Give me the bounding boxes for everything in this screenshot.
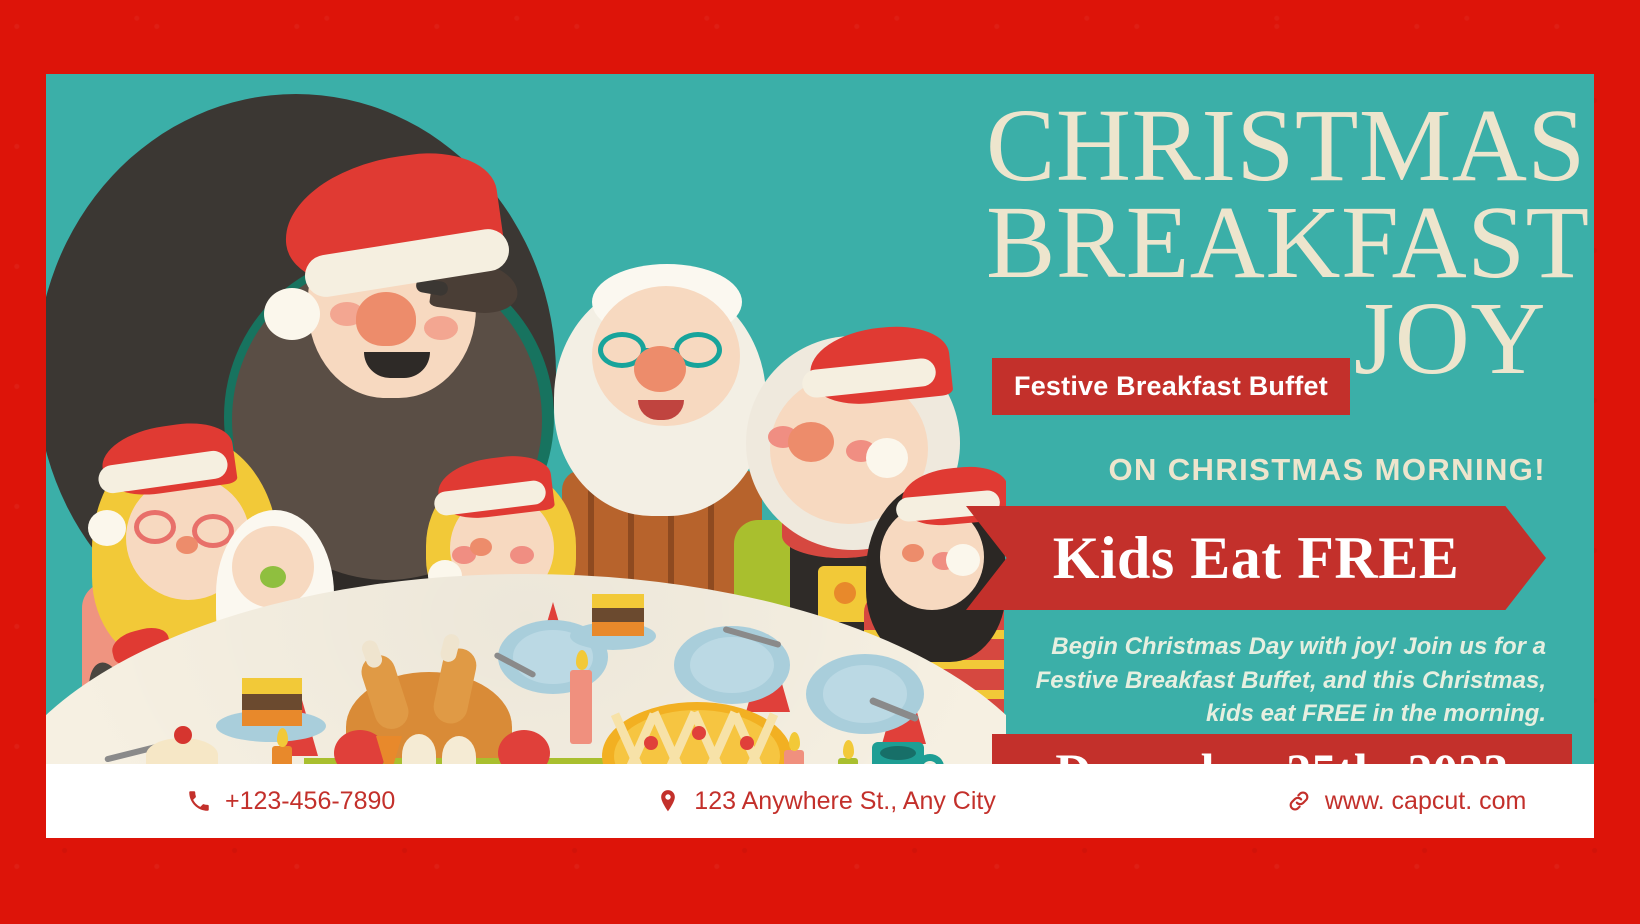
cake-middle-layer bbox=[592, 608, 644, 622]
grandmother-hat-pompom bbox=[866, 438, 908, 478]
candle bbox=[570, 670, 592, 744]
grandfather-nose bbox=[634, 346, 686, 392]
poster-canvas: CHRISTMAS BREAKFAST JOY Festive Breakfas… bbox=[46, 74, 1594, 838]
father-nose bbox=[356, 292, 416, 346]
contact-address[interactable]: 123 Anywhere St., Any City bbox=[655, 787, 996, 816]
mother-nose bbox=[176, 536, 198, 554]
baby-pacifier bbox=[260, 566, 286, 588]
promo-content: CHRISTMAS BREAKFAST JOY Festive Breakfas… bbox=[946, 74, 1594, 764]
cake-bottom-layer bbox=[242, 710, 302, 726]
page-title: CHRISTMAS BREAKFAST JOY bbox=[986, 98, 1546, 388]
promo-description: Begin Christmas Day with joy! Join us fo… bbox=[1006, 630, 1546, 731]
cake-middle-layer bbox=[242, 694, 302, 710]
candle bbox=[784, 750, 804, 764]
address-text: 123 Anywhere St., Any City bbox=[694, 787, 996, 816]
plate bbox=[806, 654, 924, 734]
father-hat-pompom bbox=[264, 288, 320, 340]
cherry bbox=[174, 726, 192, 744]
child-nose bbox=[470, 538, 492, 556]
teacup-liquid bbox=[880, 746, 916, 760]
child-cheek-right bbox=[510, 546, 534, 564]
headline-line-2: BREAKFAST bbox=[986, 195, 1546, 292]
grandmother-nose bbox=[788, 422, 834, 462]
candle-flame bbox=[789, 732, 800, 751]
family-illustration bbox=[46, 74, 1006, 764]
link-icon bbox=[1286, 788, 1312, 814]
cake-bottom-layer bbox=[592, 622, 644, 636]
plate bbox=[674, 626, 790, 704]
website-url: www. capcut. com bbox=[1325, 787, 1526, 816]
candle-flame bbox=[277, 728, 288, 747]
candle-flame bbox=[576, 650, 588, 670]
subheadline: ON CHRISTMAS MORNING! bbox=[986, 452, 1546, 488]
girl-nose bbox=[902, 544, 924, 562]
festive-buffet-badge: Festive Breakfast Buffet bbox=[992, 358, 1350, 415]
father-cheek-right bbox=[424, 316, 458, 340]
contact-footer: +123-456-7890 123 Anywhere St., Any City… bbox=[46, 764, 1594, 838]
candle-flame bbox=[843, 740, 854, 759]
cup-star-motif bbox=[834, 582, 856, 604]
contact-website[interactable]: www. capcut. com bbox=[1286, 787, 1526, 816]
mother-hat-pompom bbox=[88, 510, 126, 546]
cake-top-layer bbox=[242, 678, 302, 694]
location-pin-icon bbox=[655, 788, 681, 814]
candle bbox=[272, 746, 292, 764]
ribbon-label: Kids Eat FREE bbox=[1053, 524, 1460, 593]
phone-icon bbox=[186, 788, 212, 814]
mother-glasses-left bbox=[134, 510, 176, 544]
cake-top-layer bbox=[592, 594, 644, 608]
kids-eat-free-ribbon: Kids Eat FREE bbox=[966, 506, 1546, 610]
phone-number: +123-456-7890 bbox=[225, 787, 395, 816]
contact-phone[interactable]: +123-456-7890 bbox=[186, 787, 395, 816]
